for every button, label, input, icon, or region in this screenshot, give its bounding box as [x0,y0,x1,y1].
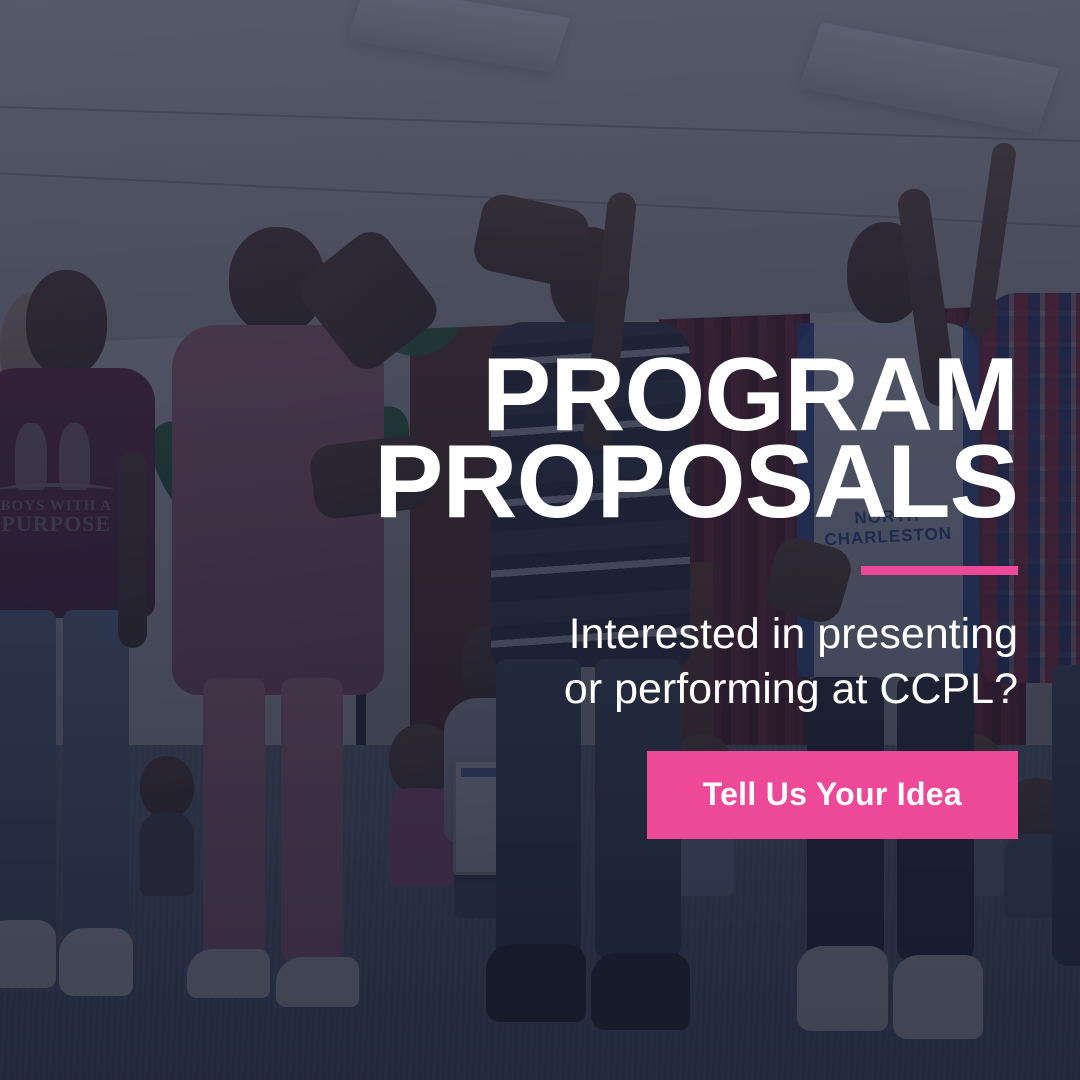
promotional-graphic: BOYS WITH A PURPOSE [0,0,1080,1080]
tell-us-your-idea-button[interactable]: Tell Us Your Idea [647,751,1018,839]
content-block: PROGRAM PROPOSALS Interested in presenti… [318,352,1018,839]
page-title: PROGRAM PROPOSALS [318,352,1018,526]
subtitle-text: Interested in presenting or performing a… [318,607,1018,717]
accent-divider [861,566,1018,575]
